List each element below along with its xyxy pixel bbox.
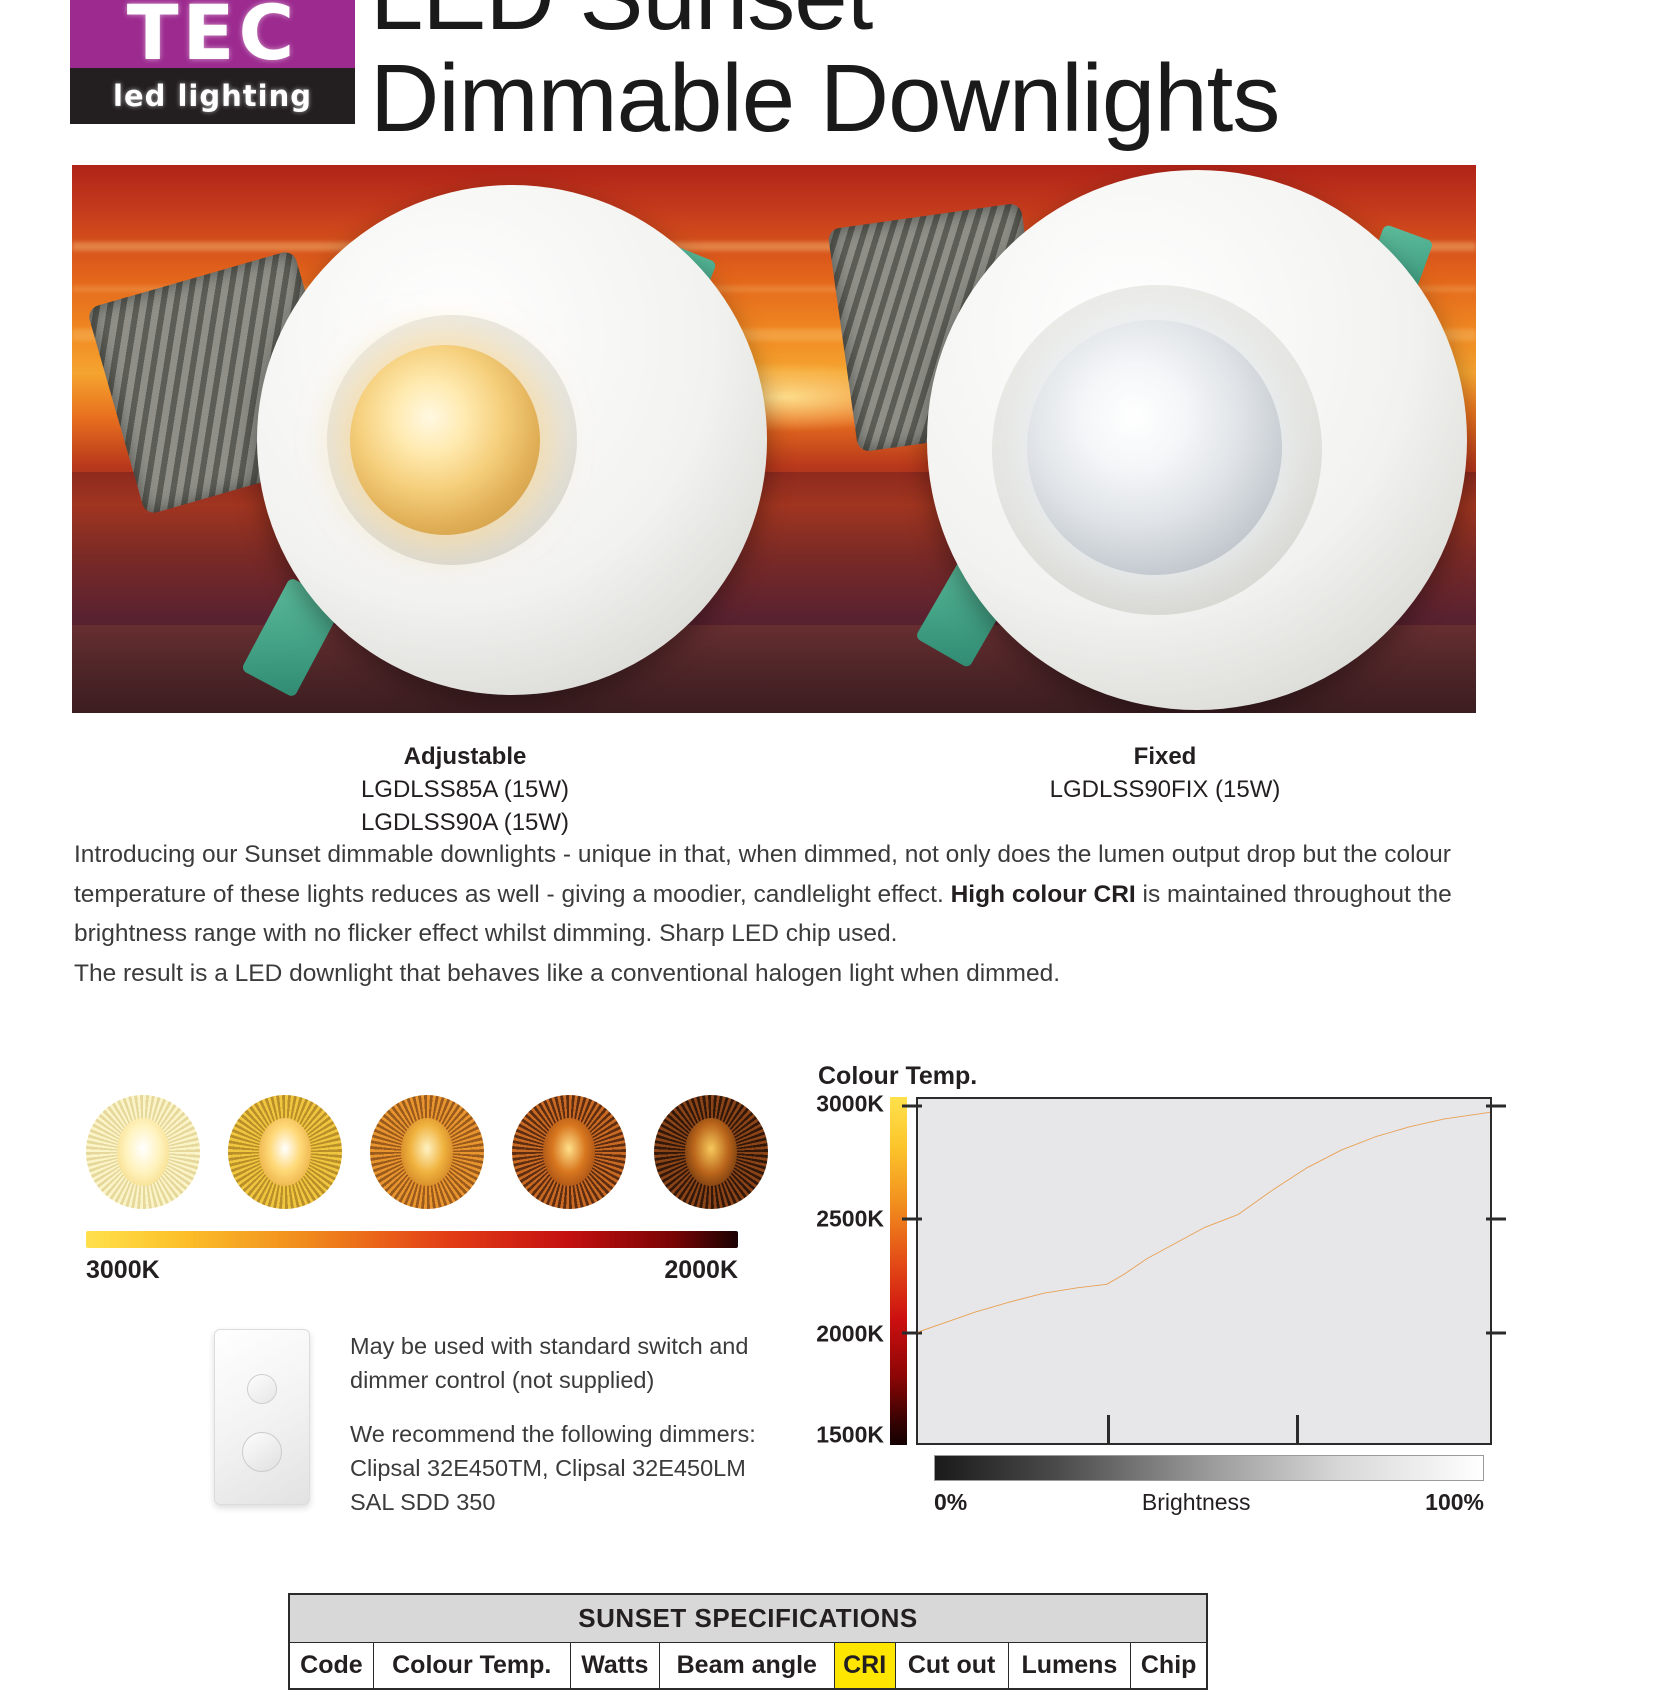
- dimmer-recommendation-block: May be used with standard switch and dim…: [214, 1329, 774, 1519]
- product-code-adjustable-1: LGDLSS85A (15W): [230, 773, 700, 806]
- dimmer-line-5: SAL SDD 350: [350, 1485, 756, 1519]
- spec-table-title: SUNSET SPECIFICATIONS: [289, 1594, 1207, 1643]
- product-name-fixed: Fixed: [930, 740, 1400, 773]
- logo-tagline: led lighting: [113, 79, 312, 113]
- spec-table-header-row: Code Colour Temp. Watts Beam angle CRI C…: [289, 1643, 1207, 1690]
- product-caption-fixed: Fixed LGDLSS90FIX (15W): [930, 740, 1400, 806]
- chart-y-axis-title: Colour Temp.: [818, 1062, 1492, 1091]
- spec-table-title-row: SUNSET SPECIFICATIONS: [289, 1594, 1207, 1643]
- title-line-1: LED Sunset: [370, 0, 1630, 48]
- chart-plot-area: [916, 1097, 1492, 1445]
- led-swatch-brightest: [86, 1095, 200, 1209]
- dimmer-text-block: May be used with standard switch and dim…: [350, 1329, 756, 1519]
- y-tick-label-2000k: 2000K: [816, 1320, 884, 1347]
- product-name-adjustable: Adjustable: [230, 740, 700, 773]
- colour-temperature-gradient-bar: [86, 1231, 738, 1248]
- led-swatch-dimmest: [654, 1095, 768, 1209]
- spec-col-cri: CRI: [834, 1643, 895, 1690]
- colour-temp-vs-brightness-chart: Colour Temp. 3000K 2500K 2000K 1500K 0% …: [812, 1062, 1492, 1516]
- description-bold-phrase: High colour CRI: [951, 881, 1136, 908]
- spec-col-cut-out: Cut out: [895, 1643, 1008, 1690]
- spec-col-watts: Watts: [570, 1643, 659, 1690]
- page-header: TEC led lighting LED Sunset Dimmable Dow…: [0, 0, 1676, 150]
- hero-product-photo: [72, 165, 1476, 713]
- led-swatch-dim: [512, 1095, 626, 1209]
- y-tick-label-1500k: 1500K: [816, 1421, 884, 1448]
- dimmer-line-2: dimmer control (not supplied): [350, 1363, 756, 1397]
- spec-col-code: Code: [289, 1643, 373, 1690]
- chart-colour-temperature-bar: [890, 1097, 907, 1445]
- y-tick-label-3000k: 3000K: [816, 1090, 884, 1117]
- dimmer-knob-icon: [242, 1432, 282, 1472]
- title-line-2: Dimmable Downlights: [370, 48, 1630, 150]
- x-axis-label-min: 0%: [934, 1489, 967, 1516]
- kelvin-label-left: 3000K: [86, 1256, 160, 1285]
- kelvin-label-right: 2000K: [664, 1256, 738, 1285]
- spec-col-lumens: Lumens: [1008, 1643, 1131, 1690]
- dimmer-switch-plate-image: [214, 1329, 310, 1505]
- led-swatch-mid: [370, 1095, 484, 1209]
- product-caption-adjustable: Adjustable LGDLSS85A (15W) LGDLSS90A (15…: [230, 740, 700, 839]
- specifications-table: SUNSET SPECIFICATIONS Code Colour Temp. …: [288, 1593, 1208, 1690]
- chart-brightness-gradient-bar: [934, 1455, 1484, 1481]
- chart-curve-svg: [918, 1099, 1490, 1443]
- led-dimming-sequence: [74, 1095, 774, 1209]
- product-code-fixed-1: LGDLSS90FIX (15W): [930, 773, 1400, 806]
- spec-col-beam-angle: Beam angle: [659, 1643, 834, 1690]
- dimmer-line-1: May be used with standard switch and: [350, 1329, 756, 1363]
- logo-top-band: TEC: [70, 0, 355, 68]
- chart-x-axis-title: Brightness: [1142, 1489, 1251, 1516]
- description-paragraph-1: Introducing our Sunset dimmable downligh…: [74, 835, 1484, 954]
- spec-col-chip: Chip: [1131, 1643, 1207, 1690]
- y-tick-label-2500k: 2500K: [816, 1205, 884, 1232]
- product-description: Introducing our Sunset dimmable downligh…: [74, 835, 1484, 994]
- led-swatch-bright: [228, 1095, 342, 1209]
- switch-button-icon: [247, 1374, 277, 1404]
- dimming-illustration-panel: 3000K 2000K May be used with standard sw…: [74, 1095, 774, 1519]
- description-paragraph-2: The result is a LED downlight that behav…: [74, 954, 1484, 994]
- dimmer-line-4: Clipsal 32E450TM, Clipsal 32E450LM: [350, 1451, 756, 1485]
- dimmer-line-3: We recommend the following dimmers:: [350, 1417, 756, 1451]
- chart-y-tick-labels: 3000K 2500K 2000K 1500K: [812, 1097, 884, 1445]
- logo-brand-name: TEC: [127, 0, 299, 68]
- chart-x-axis-labels: 0% Brightness 100%: [934, 1489, 1484, 1516]
- x-axis-label-max: 100%: [1425, 1489, 1484, 1516]
- colour-temperature-scale-labels: 3000K 2000K: [86, 1256, 738, 1285]
- page-title: LED Sunset Dimmable Downlights: [370, 0, 1630, 150]
- chart-plot-region: 3000K 2500K 2000K 1500K: [812, 1097, 1492, 1445]
- brand-logo: TEC led lighting: [70, 0, 355, 124]
- spec-col-colour-temp: Colour Temp.: [373, 1643, 570, 1690]
- chart-series-line: [918, 1112, 1490, 1332]
